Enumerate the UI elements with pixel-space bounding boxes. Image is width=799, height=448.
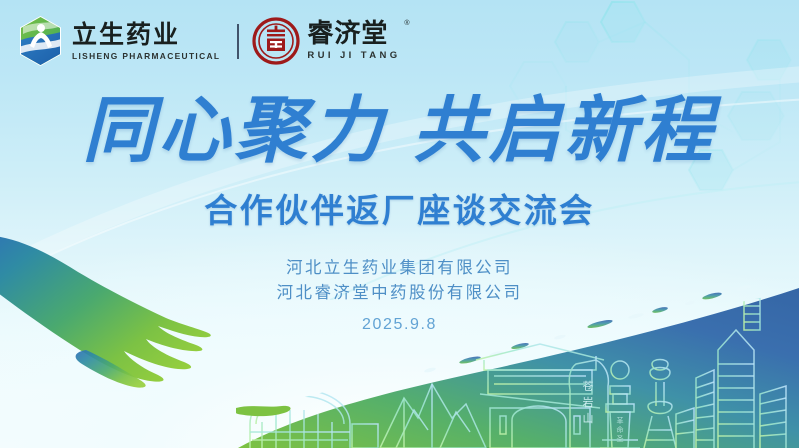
svg-text:圣: 圣: [617, 435, 624, 443]
lisheng-en-name: LISHENG PHARMACEUTICAL: [72, 50, 220, 62]
company-names: 河北立生药业集团有限公司 河北睿济堂中药股份有限公司: [0, 255, 799, 305]
lisheng-cn-name: 立生药业: [72, 21, 220, 49]
green-fleck-accent-icon: [236, 398, 296, 422]
pagoda-gate-tower-icon: [476, 344, 604, 448]
tower-vertical-text: 革: [617, 416, 624, 425]
main-title-part-2: 共启新程: [413, 87, 717, 172]
subtitle: 合作伙伴返厂座谈交流会: [0, 190, 799, 232]
tv-tower-icon: [644, 340, 676, 448]
ruijitang-wordmark: 睿济堂 ® RUI JI TANG: [307, 20, 400, 62]
company-name-1: 河北立生药业集团有限公司: [0, 255, 799, 280]
brand-divider: [237, 24, 239, 59]
svg-text:命: 命: [617, 425, 624, 434]
registered-mark: ®: [404, 20, 409, 27]
cangyan-mountain-stele-icon: [569, 360, 608, 448]
xibaipo-memorial-tower-icon: [600, 361, 640, 448]
ruijitang-seal-icon: [252, 17, 300, 65]
svg-text:山: 山: [583, 412, 594, 425]
poster-canvas: 立生药业 LISHENG PHARMACEUTICAL 睿济堂 ® RUI: [0, 0, 799, 448]
lisheng-wordmark: 立生药业 LISHENG PHARMACEUTICAL: [72, 21, 220, 62]
main-title: 同心聚力共启新程: [0, 88, 799, 172]
stadium-dome-icon: [250, 390, 378, 448]
event-date: 2025.9.8: [0, 316, 799, 334]
skyline-labels: 苍 岩 山 革 命 圣: [583, 380, 624, 443]
ruijitang-cn-name: 睿济堂: [307, 20, 400, 49]
main-title-part-1: 同心聚力: [82, 87, 386, 172]
lisheng-hexagon-logo-icon: [17, 15, 64, 67]
company-name-2: 河北睿济堂中药股份有限公司: [0, 280, 799, 305]
ruijitang-en-name: RUI JI TANG: [307, 50, 400, 62]
brand-header: 立生药业 LISHENG PHARMACEUTICAL 睿济堂 ® RUI: [17, 16, 401, 66]
svg-text:岩: 岩: [583, 395, 594, 409]
mountain-ridge-icon: [380, 384, 486, 448]
cangyan-mountain-label: 苍: [583, 380, 594, 393]
